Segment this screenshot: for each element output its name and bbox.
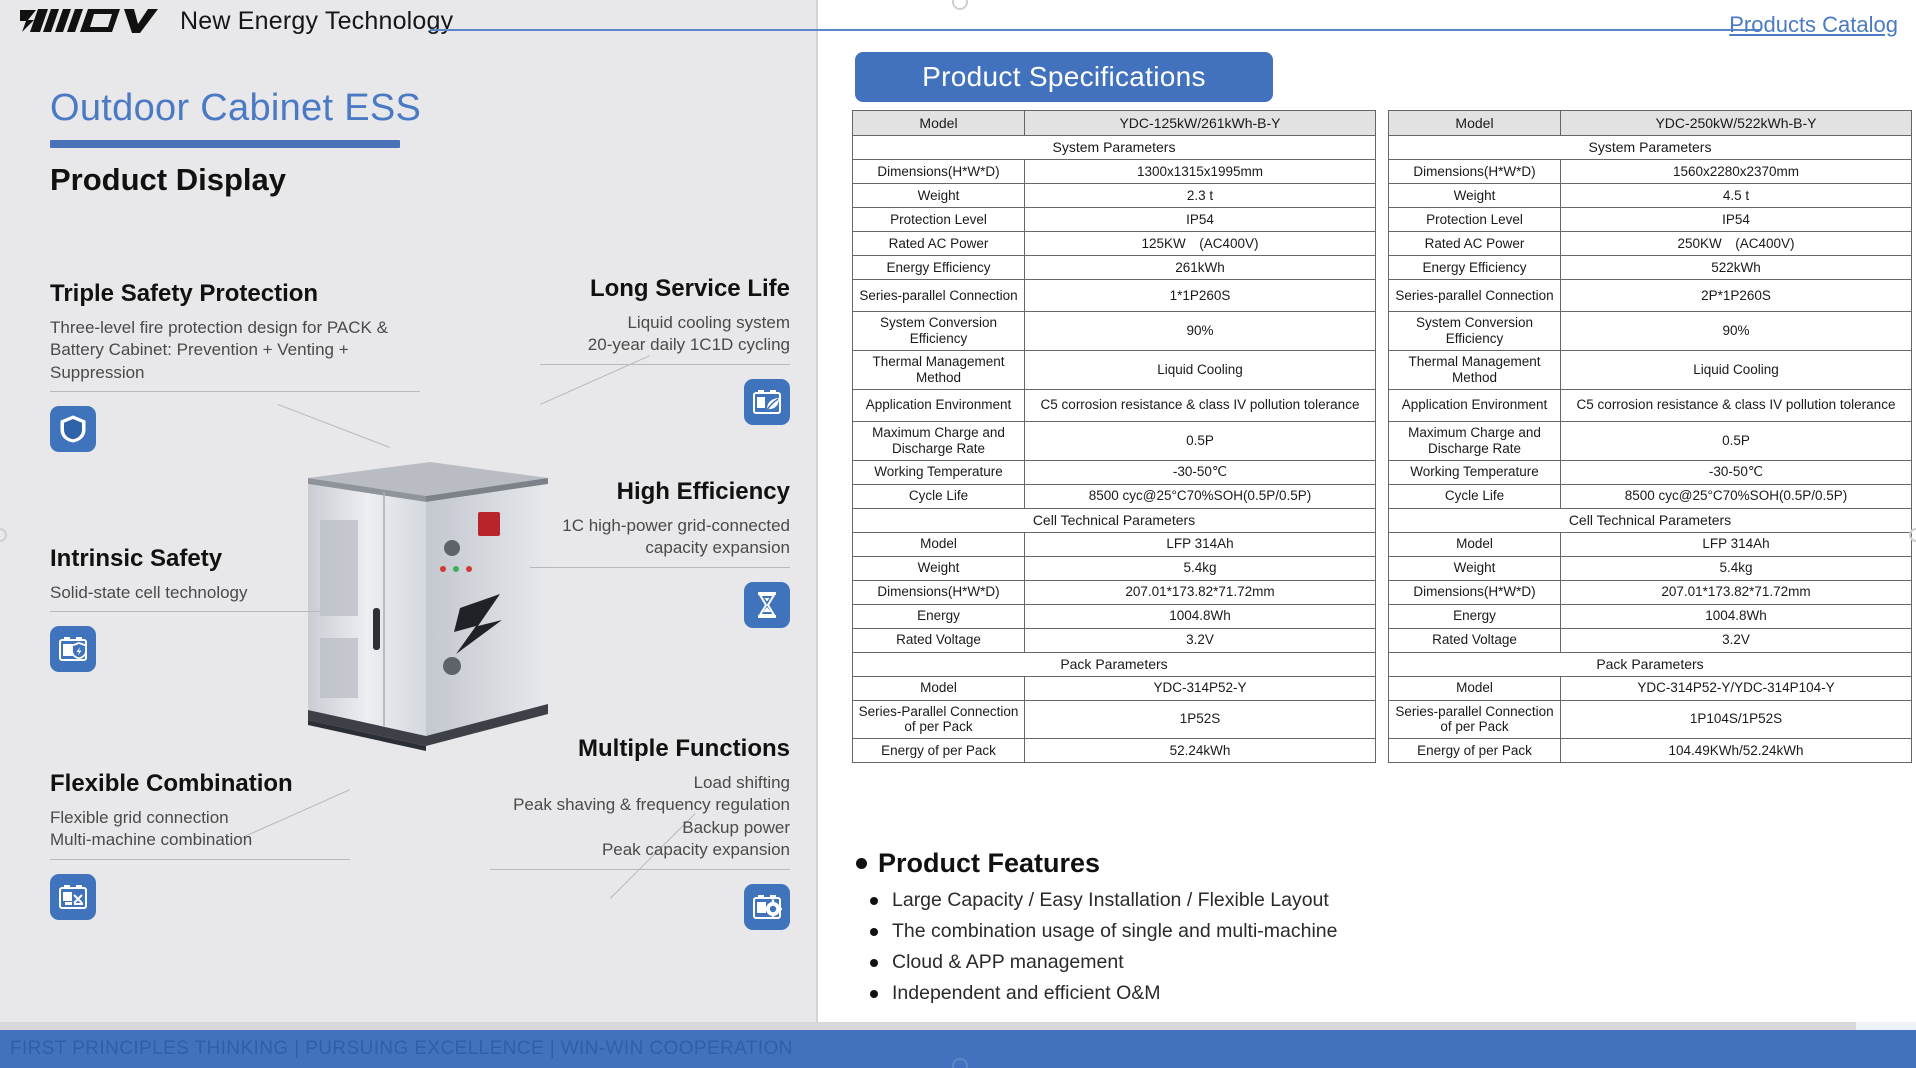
battery-gear-icon bbox=[744, 884, 790, 930]
bullet-icon bbox=[870, 897, 878, 905]
battery-leaf-icon bbox=[744, 379, 790, 425]
feature-flexible-combination: Flexible Combination Flexible grid conne… bbox=[50, 770, 350, 920]
table-header-value: YDC-250kW/522kWh-B-Y bbox=[1561, 111, 1912, 136]
table-cell: System Parameters bbox=[853, 136, 1376, 160]
table-row: System Conversion Efficiency90% bbox=[853, 312, 1376, 351]
table-row: Weight2.3 t bbox=[853, 184, 1376, 208]
row-value: 3.2V bbox=[1025, 628, 1376, 652]
row-label: Working Temperature bbox=[1389, 460, 1561, 484]
table-row: Dimensions(H*W*D)1560x2280x2370mm bbox=[1389, 160, 1912, 184]
table-row: Series-parallel Connection2P*1P260S bbox=[1389, 280, 1912, 312]
table-header-label: Model bbox=[1389, 111, 1561, 136]
row-label: Dimensions(H*W*D) bbox=[853, 580, 1025, 604]
table-row: Series-Parallel Connection of per Pack1P… bbox=[853, 700, 1376, 739]
row-value: 4.5 t bbox=[1561, 184, 1912, 208]
table-row: Cycle Life8500 cyc@25°C70%SOH(0.5P/0.5P) bbox=[853, 484, 1376, 508]
battery-link-icon bbox=[50, 874, 96, 920]
feature-desc: Liquid cooling system 20-year daily 1C1D… bbox=[540, 312, 790, 357]
footer-strip bbox=[0, 1022, 1916, 1030]
table-row: Weight5.4kg bbox=[853, 556, 1376, 580]
row-label: Protection Level bbox=[1389, 208, 1561, 232]
row-value: 1004.8Wh bbox=[1025, 604, 1376, 628]
table-row: Rated Voltage3.2V bbox=[1389, 628, 1912, 652]
row-label: Application Environment bbox=[1389, 389, 1561, 421]
feature-high-efficiency: High Efficiency 1C high-power grid-conne… bbox=[530, 478, 790, 628]
row-label: Series-parallel Connection of per Pack bbox=[1389, 700, 1561, 739]
row-label: Rated Voltage bbox=[853, 628, 1025, 652]
row-label: Maximum Charge and Discharge Rate bbox=[1389, 421, 1561, 460]
products-catalog-link[interactable]: Products Catalog bbox=[1729, 12, 1898, 38]
row-label: Series-Parallel Connection of per Pack bbox=[853, 700, 1025, 739]
table-row: Cell Technical Parameters bbox=[853, 508, 1376, 532]
table-row: System Conversion Efficiency90% bbox=[1389, 312, 1912, 351]
hourglass-icon bbox=[744, 582, 790, 628]
bullet-icon bbox=[870, 990, 878, 998]
header-divider bbox=[430, 29, 820, 31]
table-row: Energy1004.8Wh bbox=[1389, 604, 1912, 628]
table-row: Working Temperature-30-50℃ bbox=[853, 460, 1376, 484]
table-row: ModelYDC-314P52-Y/YDC-314P104-Y bbox=[1389, 676, 1912, 700]
table-row: Rated AC Power125KW (AC400V) bbox=[853, 232, 1376, 256]
row-label: Cycle Life bbox=[1389, 484, 1561, 508]
battery-shield-icon bbox=[50, 626, 96, 672]
row-value: 0.5P bbox=[1025, 421, 1376, 460]
bullet-icon bbox=[870, 959, 878, 967]
row-label: Energy Efficiency bbox=[1389, 256, 1561, 280]
row-value: 1P104S/1P52S bbox=[1561, 700, 1912, 739]
brand-name: New Energy Technology bbox=[180, 7, 453, 36]
table-row: ModelYDC-250kW/522kWh-B-Y bbox=[1389, 111, 1912, 136]
row-value: C5 corrosion resistance & class IV pollu… bbox=[1561, 389, 1912, 421]
table-row: Maximum Charge and Discharge Rate0.5P bbox=[853, 421, 1376, 460]
row-label: Rated AC Power bbox=[853, 232, 1025, 256]
table-row: ModelYDC-125kW/261kWh-B-Y bbox=[853, 111, 1376, 136]
row-label: Energy bbox=[1389, 604, 1561, 628]
row-value: Liquid Cooling bbox=[1561, 350, 1912, 389]
row-value: IP54 bbox=[1025, 208, 1376, 232]
shield-icon bbox=[50, 406, 96, 452]
list-item-text: Large Capacity / Easy Installation / Fle… bbox=[892, 889, 1329, 912]
row-label: Energy bbox=[853, 604, 1025, 628]
feature-triple-safety-protection: Triple Safety Protection Three-level fir… bbox=[50, 280, 420, 452]
table-cell: Pack Parameters bbox=[1389, 652, 1912, 676]
table-row: ModelLFP 314Ah bbox=[853, 532, 1376, 556]
row-label: Weight bbox=[1389, 556, 1561, 580]
product-features-block: Product Features Large Capacity / Easy I… bbox=[856, 848, 1338, 1013]
table-cell: Cell Technical Parameters bbox=[853, 508, 1376, 532]
table-row: Weight4.5 t bbox=[1389, 184, 1912, 208]
row-value: C5 corrosion resistance & class IV pollu… bbox=[1025, 389, 1376, 421]
feature-title: Triple Safety Protection bbox=[50, 280, 420, 308]
row-label: Protection Level bbox=[853, 208, 1025, 232]
table-row: System Parameters bbox=[853, 136, 1376, 160]
row-value: 3.2V bbox=[1561, 628, 1912, 652]
feature-long-service-life: Long Service Life Liquid cooling system … bbox=[540, 275, 790, 425]
feature-desc: Three-level fire protection design for P… bbox=[50, 317, 420, 384]
table-row: Pack Parameters bbox=[1389, 652, 1912, 676]
row-label: Dimensions(H*W*D) bbox=[1389, 580, 1561, 604]
table-row: Energy of per Pack104.49KWh/52.24kWh bbox=[1389, 739, 1912, 763]
row-value: 522kWh bbox=[1561, 256, 1912, 280]
product-features-title: Product Features bbox=[856, 848, 1338, 879]
table-row: Energy Efficiency522kWh bbox=[1389, 256, 1912, 280]
row-value: LFP 314Ah bbox=[1561, 532, 1912, 556]
row-value: 104.49KWh/52.24kWh bbox=[1561, 739, 1912, 763]
row-value: 90% bbox=[1025, 312, 1376, 351]
row-label: Series-parallel Connection bbox=[1389, 280, 1561, 312]
row-value: 8500 cyc@25°C70%SOH(0.5P/0.5P) bbox=[1025, 484, 1376, 508]
table-row: Application EnvironmentC5 corrosion resi… bbox=[853, 389, 1376, 421]
row-label: Model bbox=[1389, 676, 1561, 700]
spec-table-body-0: ModelYDC-125kW/261kWh-B-YSystem Paramete… bbox=[853, 111, 1376, 763]
row-label: Energy Efficiency bbox=[853, 256, 1025, 280]
feature-desc: Flexible grid connection Multi-machine c… bbox=[50, 807, 350, 852]
table-row: System Parameters bbox=[1389, 136, 1912, 160]
row-label: Working Temperature bbox=[853, 460, 1025, 484]
spec-tables-wrap: ModelYDC-125kW/261kWh-B-YSystem Paramete… bbox=[852, 110, 1912, 763]
row-value: -30-50℃ bbox=[1561, 460, 1912, 484]
row-value: -30-50℃ bbox=[1025, 460, 1376, 484]
title-underline bbox=[50, 140, 400, 148]
feature-multiple-functions: Multiple Functions Load shifting Peak sh… bbox=[490, 735, 790, 930]
row-value: 1560x2280x2370mm bbox=[1561, 160, 1912, 184]
table-row: Dimensions(H*W*D)207.01*173.82*71.72mm bbox=[1389, 580, 1912, 604]
row-label: Cycle Life bbox=[853, 484, 1025, 508]
table-cell: System Parameters bbox=[1389, 136, 1912, 160]
table-row: Weight5.4kg bbox=[1389, 556, 1912, 580]
feature-title: Intrinsic Safety bbox=[50, 545, 320, 573]
section-title: Product Display bbox=[50, 162, 286, 198]
feature-desc: Load shifting Peak shaving & frequency r… bbox=[490, 772, 790, 862]
table-row: Energy of per Pack52.24kWh bbox=[853, 739, 1376, 763]
row-value: 52.24kWh bbox=[1025, 739, 1376, 763]
row-label: Weight bbox=[853, 556, 1025, 580]
row-label: Energy of per Pack bbox=[1389, 739, 1561, 763]
list-item: Large Capacity / Easy Installation / Fle… bbox=[870, 889, 1338, 912]
row-value: 5.4kg bbox=[1561, 556, 1912, 580]
list-item-text: Cloud & APP management bbox=[892, 951, 1124, 974]
table-row: Energy Efficiency261kWh bbox=[853, 256, 1376, 280]
right-panel: Products Catalog Product Specifications … bbox=[820, 0, 1916, 1022]
row-value: 250KW (AC400V) bbox=[1561, 232, 1912, 256]
product-specifications-banner: Product Specifications bbox=[855, 52, 1273, 102]
row-value: 1004.8Wh bbox=[1561, 604, 1912, 628]
table-row: Series-parallel Connection1*1P260S bbox=[853, 280, 1376, 312]
feature-intrinsic-safety: Intrinsic Safety Solid-state cell techno… bbox=[50, 545, 320, 672]
table-row: ModelYDC-314P52-Y bbox=[853, 676, 1376, 700]
row-value: IP54 bbox=[1561, 208, 1912, 232]
table-row: Maximum Charge and Discharge Rate0.5P bbox=[1389, 421, 1912, 460]
list-item: Independent and efficient O&M bbox=[870, 982, 1338, 1005]
table-row: Application EnvironmentC5 corrosion resi… bbox=[1389, 389, 1912, 421]
row-value: 8500 cyc@25°C70%SOH(0.5P/0.5P) bbox=[1561, 484, 1912, 508]
row-label: Rated Voltage bbox=[1389, 628, 1561, 652]
row-label: Rated AC Power bbox=[1389, 232, 1561, 256]
row-value: 207.01*173.82*71.72mm bbox=[1025, 580, 1376, 604]
row-value: 261kWh bbox=[1025, 256, 1376, 280]
row-value: 5.4kg bbox=[1025, 556, 1376, 580]
feature-title: Multiple Functions bbox=[490, 735, 790, 763]
feature-rule bbox=[50, 391, 420, 392]
list-item: Cloud & APP management bbox=[870, 951, 1338, 974]
row-value: 90% bbox=[1561, 312, 1912, 351]
feature-desc: 1C high-power grid-connected capacity ex… bbox=[530, 515, 790, 560]
row-label: Energy of per Pack bbox=[853, 739, 1025, 763]
row-value: 125KW (AC400V) bbox=[1025, 232, 1376, 256]
row-label: System Conversion Efficiency bbox=[1389, 312, 1561, 351]
table-row: ModelLFP 314Ah bbox=[1389, 532, 1912, 556]
table-row: Dimensions(H*W*D)1300x1315x1995mm bbox=[853, 160, 1376, 184]
feature-desc: Solid-state cell technology bbox=[50, 582, 320, 604]
table-row: Working Temperature-30-50℃ bbox=[1389, 460, 1912, 484]
row-value: YDC-314P52-Y/YDC-314P104-Y bbox=[1561, 676, 1912, 700]
table-row: Dimensions(H*W*D)207.01*173.82*71.72mm bbox=[853, 580, 1376, 604]
table-row: Protection LevelIP54 bbox=[853, 208, 1376, 232]
row-value: 0.5P bbox=[1561, 421, 1912, 460]
row-label: System Conversion Efficiency bbox=[853, 312, 1025, 351]
prev-page-handle[interactable] bbox=[0, 528, 7, 542]
row-label: Model bbox=[853, 532, 1025, 556]
left-panel: New Energy Technology Outdoor Cabinet ES… bbox=[0, 0, 818, 1022]
row-label: Weight bbox=[1389, 184, 1561, 208]
bullet-icon bbox=[856, 858, 867, 869]
table-row: Rated Voltage3.2V bbox=[853, 628, 1376, 652]
row-value: 2.3 t bbox=[1025, 184, 1376, 208]
row-label: Dimensions(H*W*D) bbox=[1389, 160, 1561, 184]
row-value: 1P52S bbox=[1025, 700, 1376, 739]
table-row: Thermal Management MethodLiquid Cooling bbox=[1389, 350, 1912, 389]
row-value: 1*1P260S bbox=[1025, 280, 1376, 312]
catalog-divider bbox=[820, 29, 1761, 31]
row-label: Dimensions(H*W*D) bbox=[853, 160, 1025, 184]
row-value: 207.01*173.82*71.72mm bbox=[1561, 580, 1912, 604]
table-row: Cell Technical Parameters bbox=[1389, 508, 1912, 532]
product-features-title-text: Product Features bbox=[878, 848, 1100, 879]
table-header-label: Model bbox=[853, 111, 1025, 136]
row-value: YDC-314P52-Y bbox=[1025, 676, 1376, 700]
table-row: Protection LevelIP54 bbox=[1389, 208, 1912, 232]
table-row: Cycle Life8500 cyc@25°C70%SOH(0.5P/0.5P) bbox=[1389, 484, 1912, 508]
feature-title: Long Service Life bbox=[540, 275, 790, 303]
kairov-logo-icon bbox=[18, 6, 166, 36]
feature-title: Flexible Combination bbox=[50, 770, 350, 798]
table-header-value: YDC-125kW/261kWh-B-Y bbox=[1025, 111, 1376, 136]
spec-table-body-1: ModelYDC-250kW/522kWh-B-YSystem Paramete… bbox=[1389, 111, 1912, 763]
row-value: 2P*1P260S bbox=[1561, 280, 1912, 312]
row-value: LFP 314Ah bbox=[1025, 532, 1376, 556]
feature-title: High Efficiency bbox=[530, 478, 790, 506]
table-row: Series-parallel Connection of per Pack1P… bbox=[1389, 700, 1912, 739]
feature-rule bbox=[50, 859, 350, 860]
feature-rule bbox=[530, 567, 790, 568]
feature-rule bbox=[50, 611, 320, 612]
list-item: The combination usage of single and mult… bbox=[870, 920, 1338, 943]
scroll-down-handle[interactable] bbox=[952, 1058, 968, 1068]
spec-table-0: ModelYDC-125kW/261kWh-B-YSystem Paramete… bbox=[852, 110, 1376, 763]
table-cell: Pack Parameters bbox=[853, 652, 1376, 676]
table-row: Thermal Management MethodLiquid Cooling bbox=[853, 350, 1376, 389]
row-label: Thermal Management Method bbox=[853, 350, 1025, 389]
slide-page: New Energy Technology Outdoor Cabinet ES… bbox=[0, 0, 1916, 1068]
row-label: Maximum Charge and Discharge Rate bbox=[853, 421, 1025, 460]
row-value: 1300x1315x1995mm bbox=[1025, 160, 1376, 184]
row-label: Series-parallel Connection bbox=[853, 280, 1025, 312]
footer-slogan: FIRST PRINCIPLES THINKING | PURSUING EXC… bbox=[10, 1038, 793, 1060]
table-row: Energy1004.8Wh bbox=[853, 604, 1376, 628]
row-label: Model bbox=[1389, 532, 1561, 556]
product-features-list: Large Capacity / Easy Installation / Fle… bbox=[856, 889, 1338, 1005]
table-row: Pack Parameters bbox=[853, 652, 1376, 676]
row-label: Thermal Management Method bbox=[1389, 350, 1561, 389]
row-value: Liquid Cooling bbox=[1025, 350, 1376, 389]
row-label: Model bbox=[853, 676, 1025, 700]
list-item-text: The combination usage of single and mult… bbox=[892, 920, 1338, 943]
bullet-icon bbox=[870, 928, 878, 936]
spec-table-1: ModelYDC-250kW/522kWh-B-YSystem Paramete… bbox=[1388, 110, 1912, 763]
table-cell: Cell Technical Parameters bbox=[1389, 508, 1912, 532]
list-item-text: Independent and efficient O&M bbox=[892, 982, 1161, 1005]
brand-logo-row: New Energy Technology bbox=[18, 6, 453, 36]
page-title: Outdoor Cabinet ESS bbox=[50, 87, 421, 130]
table-row: Rated AC Power250KW (AC400V) bbox=[1389, 232, 1912, 256]
row-label: Application Environment bbox=[853, 389, 1025, 421]
row-label: Weight bbox=[853, 184, 1025, 208]
feature-rule bbox=[490, 869, 790, 870]
feature-rule bbox=[540, 364, 790, 365]
product-image-cabinet bbox=[300, 448, 555, 753]
next-page-handle[interactable] bbox=[1909, 528, 1916, 542]
